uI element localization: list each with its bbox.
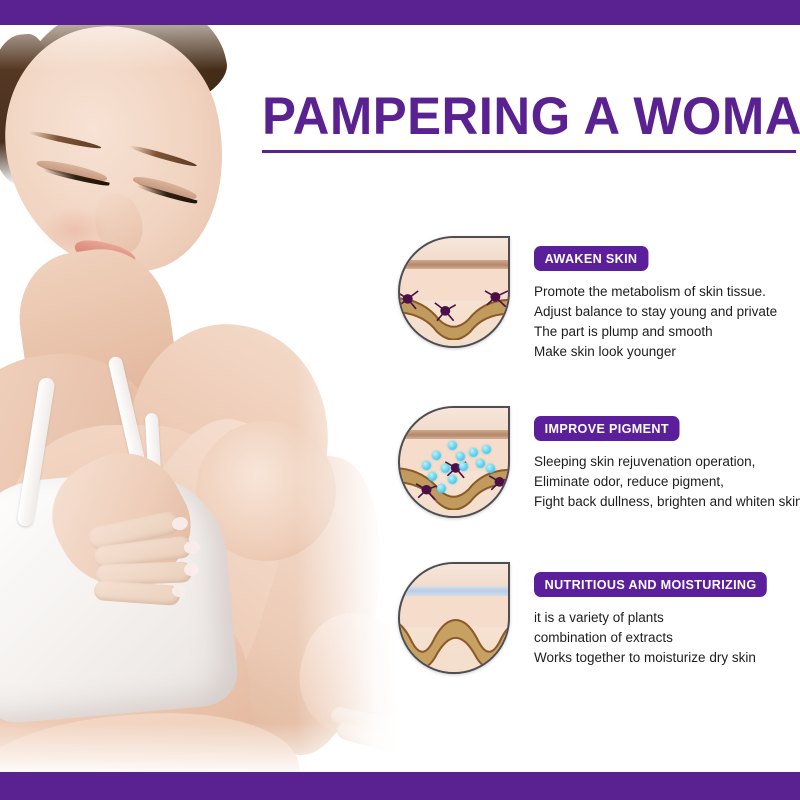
feature-line: Fight back dullness, brighten and whiten… <box>534 492 800 512</box>
title-underline <box>262 150 796 153</box>
skin-diagram-moisture-icon <box>398 562 510 674</box>
molecule-dot <box>482 445 491 454</box>
feature-line: it is a variety of plants <box>534 608 800 628</box>
bottom-border-band <box>0 772 800 800</box>
status-badge: IMPROVE PIGMENT <box>534 416 680 441</box>
status-badge: AWAKEN SKIN <box>534 246 648 271</box>
skin-diagram-pigment-icon <box>398 406 510 518</box>
feature-lines: it is a variety of plants combination of… <box>534 608 800 668</box>
molecule-dot <box>448 475 457 484</box>
feature-line: The part is plump and smooth <box>534 322 800 342</box>
molecule-dot <box>422 461 431 470</box>
feature-line: Eliminate odor, reduce pigment, <box>534 472 800 492</box>
feature-line: Promote the metabolism of skin tissue. <box>534 282 800 302</box>
feature-list: AWAKEN SKIN Promote the metabolism of sk… <box>398 236 800 674</box>
feature-item: IMPROVE PIGMENT Sleeping skin rejuvenati… <box>398 406 800 518</box>
skin-diagram-awaken-icon <box>398 236 510 348</box>
status-badge: NUTRITIOUS AND MOISTURIZING <box>534 572 767 597</box>
molecule-dot <box>448 441 457 450</box>
feature-line: Adjust balance to stay young and private <box>534 302 800 322</box>
feature-lines: Promote the metabolism of skin tissue. A… <box>534 282 800 362</box>
feature-item: NUTRITIOUS AND MOISTURIZING it is a vari… <box>398 562 800 674</box>
molecule-dot <box>437 484 446 493</box>
dermal-wave <box>398 618 510 668</box>
feature-line: Works together to moisturize dry skin <box>534 648 800 668</box>
feature-text: NUTRITIOUS AND MOISTURIZING it is a vari… <box>510 562 800 668</box>
poster-canvas: PAMPERING A WOMAN <box>0 0 800 800</box>
molecule-dot <box>428 472 437 481</box>
feature-text: AWAKEN SKIN Promote the metabolism of sk… <box>510 236 800 362</box>
feature-line: combination of extracts <box>534 628 800 648</box>
page-title: PAMPERING A WOMAN <box>262 88 775 146</box>
top-border-band <box>0 0 800 25</box>
feature-item: AWAKEN SKIN Promote the metabolism of sk… <box>398 236 800 362</box>
feature-line: Make skin look younger <box>534 342 800 362</box>
feature-lines: Sleeping skin rejuvenation operation, El… <box>534 452 800 512</box>
nerve-cells <box>398 283 510 333</box>
molecule-dot <box>469 448 478 457</box>
headline-block: PAMPERING A WOMAN <box>262 88 796 153</box>
feature-text: IMPROVE PIGMENT Sleeping skin rejuvenati… <box>510 406 800 512</box>
feature-line: Sleeping skin rejuvenation operation, <box>534 452 800 472</box>
fingernail <box>184 563 199 576</box>
molecule-dot <box>476 459 485 468</box>
